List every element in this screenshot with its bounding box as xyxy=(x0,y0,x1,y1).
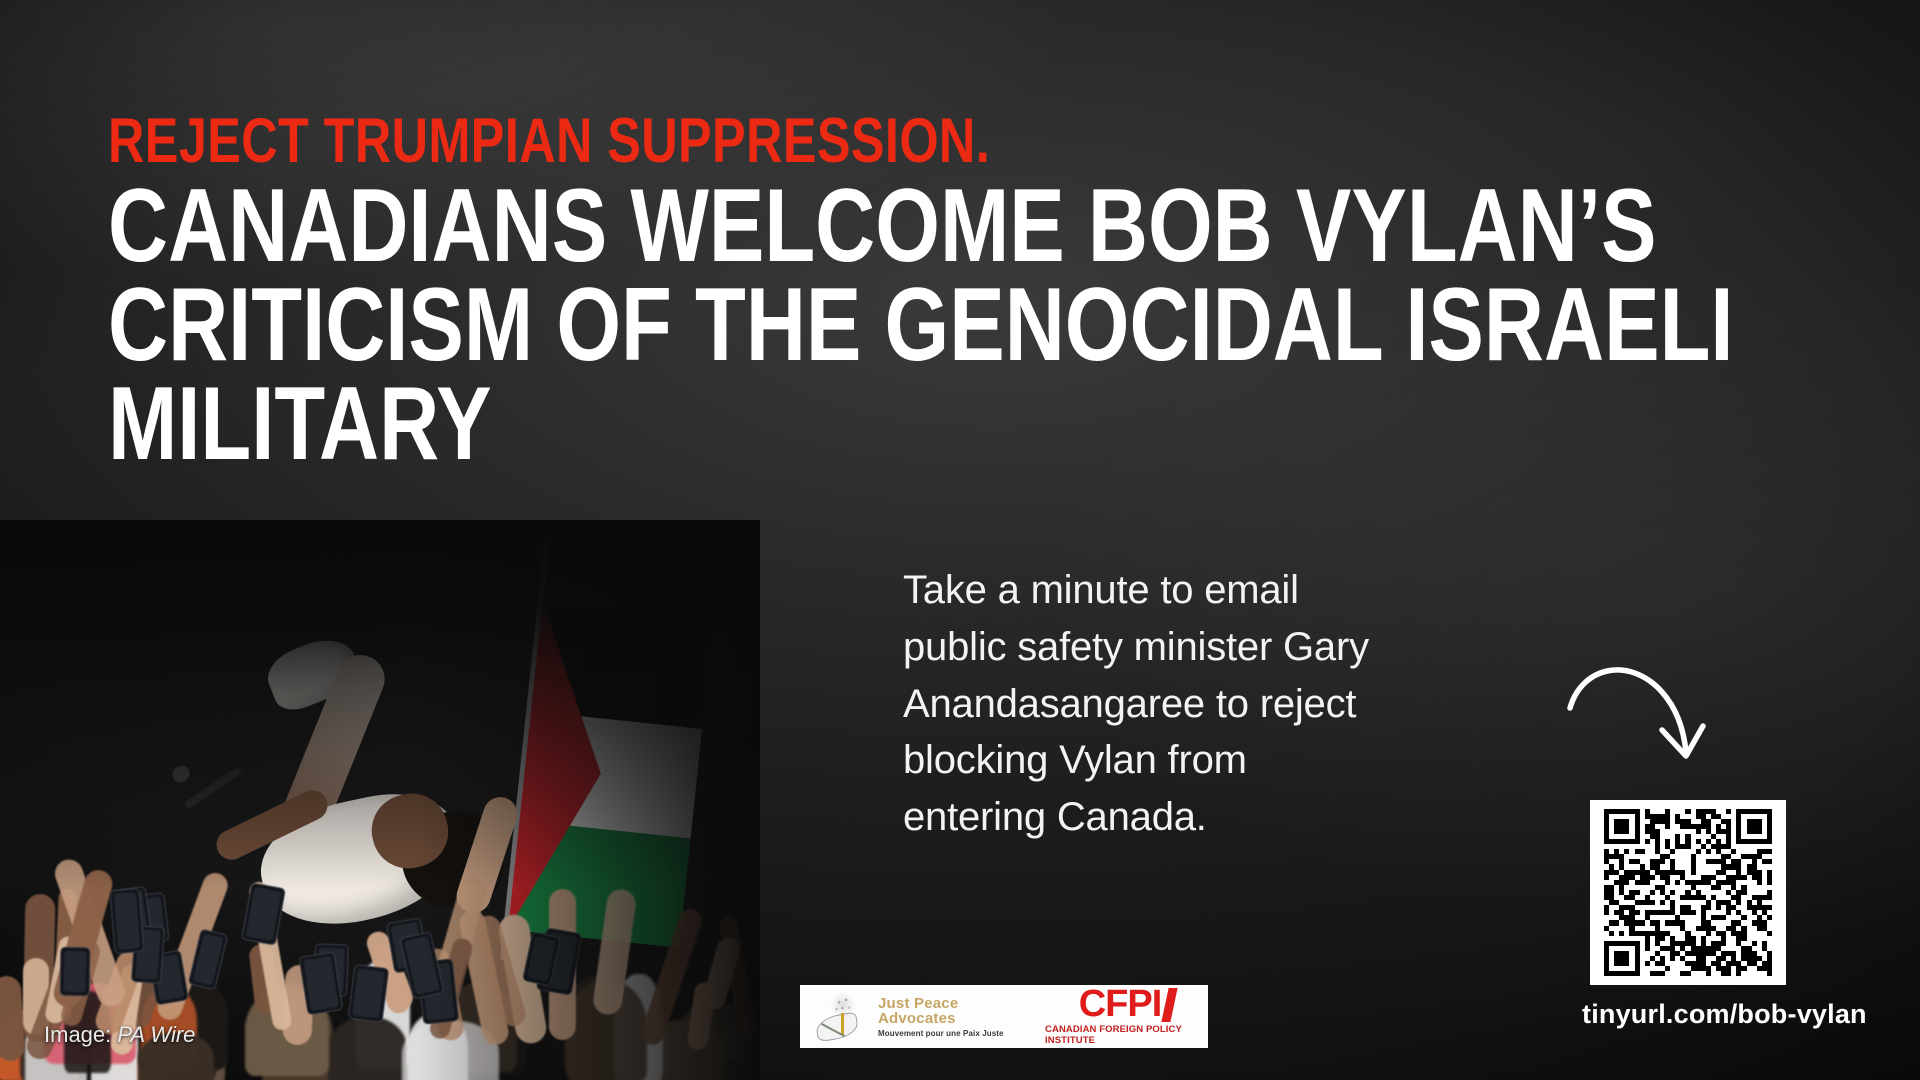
microphone-icon xyxy=(183,766,242,810)
curved-arrow-icon xyxy=(1566,652,1726,787)
cfpi-subtitle: CANADIAN FOREIGN POLICY INSTITUTE xyxy=(1045,1024,1208,1046)
crowd-phone xyxy=(348,964,390,1023)
kicker-text: REJECT TRUMPIAN SUPPRESSION. xyxy=(108,112,1500,171)
call-to-action-text: Take a minute to email public safety min… xyxy=(903,562,1593,846)
image-credit-source: PA Wire xyxy=(117,1022,195,1047)
qr-block[interactable]: tinyurl.com/bob-vylan xyxy=(1590,800,1875,1030)
just-peace-advocates-logo: Just Peace Advocates Mouvement pour une … xyxy=(800,991,1027,1043)
body-line-3: Anandasangaree to reject xyxy=(903,676,1593,733)
jpa-title: Just Peace Advocates xyxy=(878,996,1027,1026)
body-line-5: entering Canada. xyxy=(903,789,1593,846)
cfpi-title: CFPI xyxy=(1079,987,1162,1021)
cfpi-slash-mark xyxy=(1162,988,1178,1022)
cfpi-logo: CFPI CANADIAN FOREIGN POLICY INSTITUTE xyxy=(1045,987,1208,1045)
microphone-head-icon xyxy=(169,762,193,785)
crowd-phone xyxy=(59,947,90,997)
body-line-1: Take a minute to email xyxy=(903,562,1593,619)
qr-code[interactable] xyxy=(1604,809,1772,977)
body-line-2: public safety minister Gary xyxy=(903,619,1593,676)
crowd-raised-hand xyxy=(0,975,25,1061)
headline-line-3: MILITARY xyxy=(108,375,1500,474)
crowd-head xyxy=(328,1017,408,1080)
image-credit-prefix: Image: xyxy=(44,1022,117,1047)
headline-block: REJECT TRUMPIAN SUPPRESSION. CANADIANS W… xyxy=(108,112,1848,474)
partner-logo-bar: Just Peace Advocates Mouvement pour une … xyxy=(800,985,1208,1048)
image-credit: Image: PA Wire xyxy=(44,1022,195,1048)
cfpi-wordmark: CFPI xyxy=(1079,987,1175,1021)
crowd-phone xyxy=(241,882,286,946)
headline-line-2: CRITICISM OF THE GENOCIDAL ISRAELI xyxy=(108,276,1500,375)
qr-url-label[interactable]: tinyurl.com/bob-vylan xyxy=(1582,999,1867,1030)
qr-code-card[interactable] xyxy=(1590,800,1786,985)
poster-canvas: REJECT TRUMPIAN SUPPRESSION. CANADIANS W… xyxy=(0,0,1920,1080)
crowd-surfing-performer-photo xyxy=(0,520,760,1080)
body-line-4: blocking Vylan from xyxy=(903,732,1593,789)
jpa-subtitle: Mouvement pour une Paix Juste xyxy=(878,1030,1027,1038)
crowd-phone xyxy=(109,888,144,954)
olive-tree-dove-icon xyxy=(812,991,870,1043)
headline-line-1: CANADIANS WELCOME BOB VYLAN’S xyxy=(108,177,1500,276)
